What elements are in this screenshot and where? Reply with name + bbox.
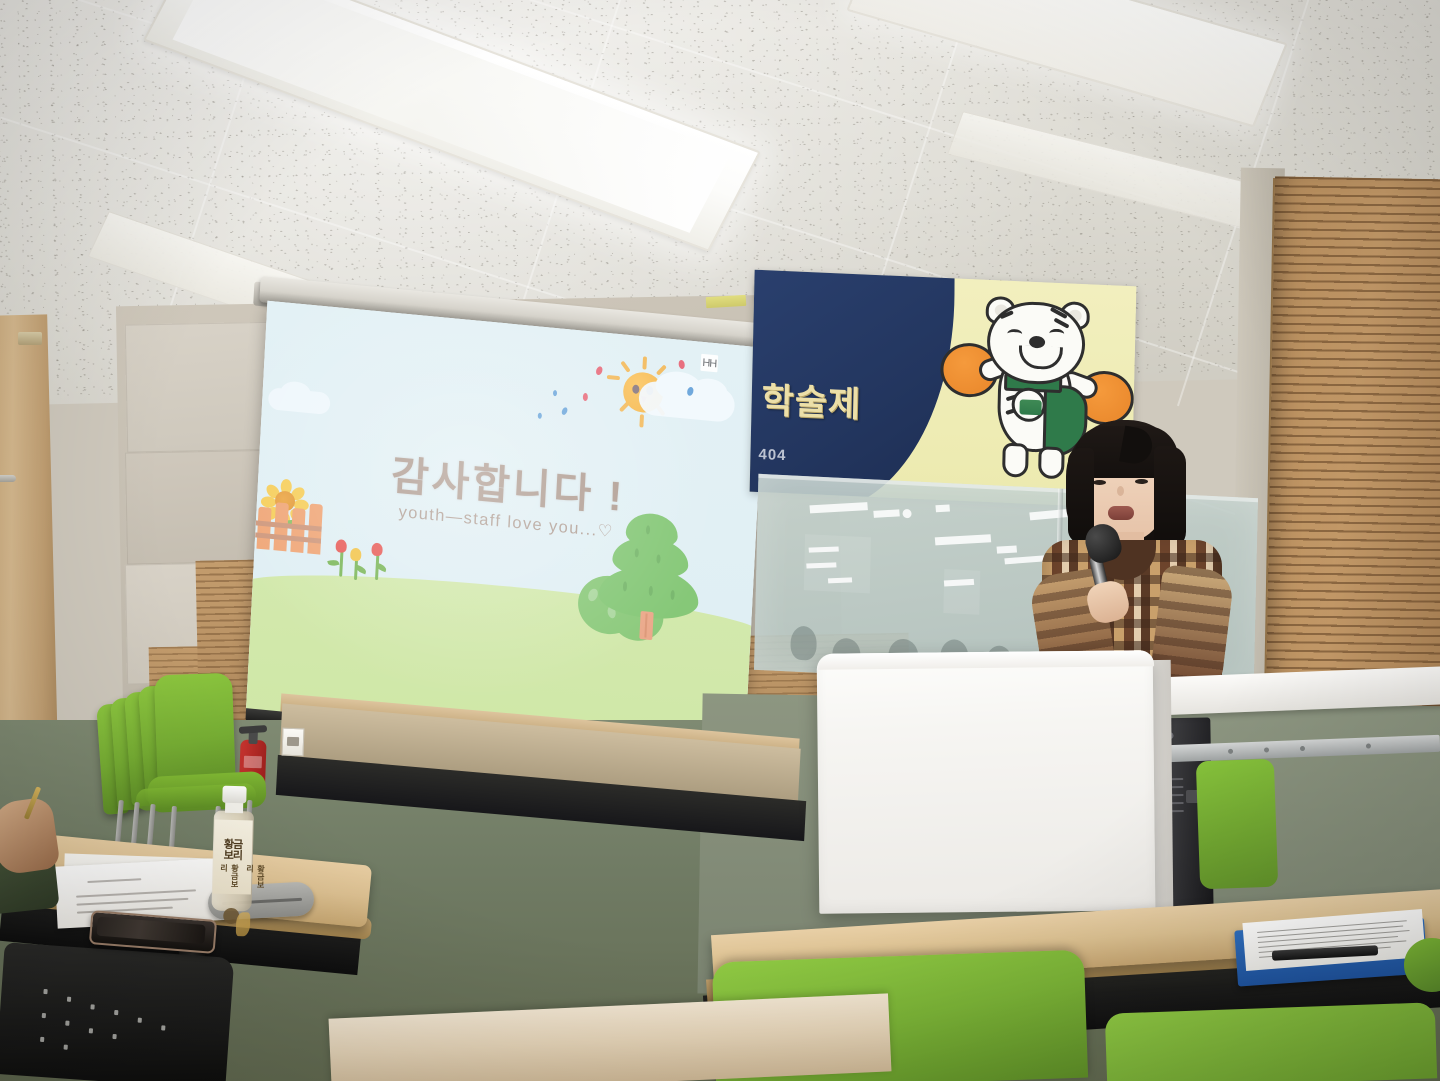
bottle-cap[interactable] <box>222 786 246 804</box>
drink-bottle[interactable]: 황금보리 황금보리 황금보리 <box>209 785 256 914</box>
chair-behind-podium[interactable] <box>1196 759 1278 890</box>
light-reflection <box>935 504 950 512</box>
tulip-flower <box>335 539 347 553</box>
presentation-slide: 감사합니다 ! youth—staff love you...♡ <box>246 301 766 758</box>
tiger-eye <box>1049 329 1064 340</box>
light-reflection <box>997 545 1017 553</box>
window-reflection <box>943 569 980 615</box>
bottle-label-side-left: 황금보리 <box>218 864 241 895</box>
podium <box>817 650 1156 914</box>
wall-sign-mark <box>287 737 299 746</box>
tulip-flower <box>371 542 383 556</box>
bottle-label-side-right: 황금보리 <box>244 864 267 895</box>
light-reflection <box>935 534 991 545</box>
eye <box>1093 480 1106 485</box>
classroom-presentation-photo: 감사합니다 ! youth—staff love you...♡ HH 학술제 … <box>0 0 1440 1081</box>
chair-left-foreground[interactable] <box>0 942 234 1081</box>
bottle-label: 황금보리 황금보리 황금보리 <box>213 820 253 895</box>
presenter-person <box>1030 414 1230 684</box>
light-reflection-dot <box>902 509 911 518</box>
mouth <box>1108 506 1134 520</box>
door-hinge <box>18 332 42 345</box>
fence-picket <box>290 508 305 553</box>
hair-side <box>1154 446 1186 550</box>
light-reflection <box>809 502 867 513</box>
window-reflection <box>804 534 871 593</box>
banner-title: 학술제 <box>761 372 942 431</box>
fence-picket <box>256 507 271 550</box>
bottle-brand-name: 황금보리 <box>214 840 253 863</box>
wall-sign <box>282 728 305 757</box>
nose <box>1117 486 1124 496</box>
tulip-flower <box>350 547 362 561</box>
audience-silhouette <box>790 626 817 661</box>
chair-foreground[interactable] <box>1105 1002 1437 1081</box>
door-handle[interactable] <box>0 475 16 482</box>
tiger-eye <box>1007 329 1022 340</box>
phone-screen[interactable] <box>97 917 206 944</box>
eye <box>1135 479 1148 484</box>
light-reflection <box>873 509 899 517</box>
screen-surface: 감사합니다 ! youth—staff love you...♡ HH <box>246 301 766 758</box>
screen-brand-logo-icon: HH <box>700 354 718 373</box>
